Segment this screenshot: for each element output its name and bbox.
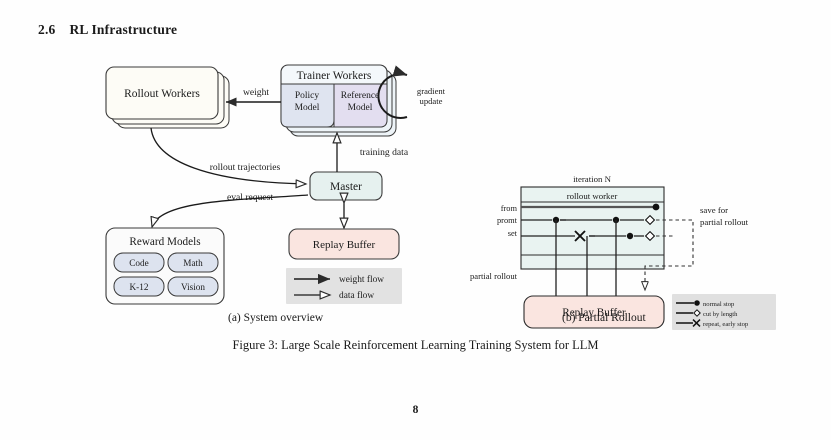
policy-model-label-line1: Policy — [295, 91, 320, 101]
training-data-edge: training data — [337, 133, 409, 172]
figure-3-graphic: Rollout Workers Trainer Workers Policy M… — [0, 50, 831, 370]
reference-model-label-line1: Reference — [341, 90, 380, 101]
panel-a-caption: (a) System overview — [228, 312, 323, 324]
iteration-label: iteration N — [573, 174, 612, 184]
panel-b-left-label-promt: promt — [497, 216, 518, 225]
legend-b-cut-by-length-label: cut by length — [703, 311, 738, 318]
filled-circle-icon — [627, 233, 633, 239]
rollout-trajectories-edge: rollout trajectories — [151, 128, 306, 184]
panel-b-left-label-set: set — [508, 229, 518, 238]
partial-rollout-label: partial rollout — [470, 271, 518, 281]
trainer-workers-title: Trainer Workers — [297, 70, 372, 82]
panel-a: Rollout Workers Trainer Workers Policy M… — [106, 65, 446, 304]
rollout-trajectories-arrow — [151, 128, 306, 184]
section-title: RL Infrastructure — [69, 22, 177, 37]
rollout-worker-label: rollout worker — [567, 191, 618, 201]
legend-b-normal-stop-label: normal stop — [703, 301, 735, 308]
filled-circle-icon — [694, 300, 700, 306]
reward-pill-math-label: Math — [183, 258, 203, 268]
panel-b-left-label-from: from — [501, 204, 518, 213]
panel-a-legend: weight flow data flow — [286, 268, 402, 304]
policy-model-label-line2: Model — [295, 103, 320, 113]
weight-edge-label: weight — [243, 87, 269, 98]
gradient-update-label-line1: gradient — [417, 86, 446, 96]
reward-models-node[interactable]: Reward Models Code Math K-12 Vision — [106, 228, 224, 304]
replay-buffer-node-a[interactable]: Replay Buffer — [289, 229, 399, 259]
legend-data-flow-label: data flow — [339, 290, 374, 301]
master-label: Master — [330, 181, 362, 193]
document-page: 2.6RL Infrastructure — [0, 0, 831, 440]
gradient-update-label-line2: update — [420, 96, 443, 106]
reference-model-label-line2: Model — [348, 103, 373, 113]
page-number: 8 — [0, 404, 831, 416]
legend-weight-flow-label: weight flow — [339, 274, 384, 285]
reward-pill-k12-label: K-12 — [130, 282, 149, 292]
replay-buffer-label-a: Replay Buffer — [313, 239, 376, 251]
rollout-workers-label: Rollout Workers — [124, 88, 200, 100]
reward-pill-vision-label: Vision — [181, 282, 205, 292]
reward-models-title: Reward Models — [129, 236, 200, 248]
eval-request-edge-label: eval request — [227, 192, 273, 203]
panel-b-caption: (b) Partial Rollout — [562, 312, 646, 324]
eval-request-edge: eval request — [152, 192, 308, 227]
figure-caption: Figure 3: Large Scale Reinforcement Lear… — [0, 338, 831, 353]
reward-pill-code-label: Code — [129, 258, 148, 268]
panel-b-legend: normal stop cut by length repeat, early … — [672, 294, 776, 330]
section-heading: 2.6RL Infrastructure — [38, 22, 177, 38]
master-node[interactable]: Master — [310, 172, 382, 200]
training-data-edge-label: training data — [360, 147, 409, 158]
panel-b: iteration N rollout worker from promt se… — [470, 174, 776, 330]
legend-b-repeat-early-stop-label: repeat, early stop — [703, 321, 749, 328]
rollout-trajectories-edge-label: rollout trajectories — [210, 162, 281, 173]
save-label-line1: save for — [700, 205, 728, 215]
section-number: 2.6 — [38, 22, 55, 37]
figure-3: Rollout Workers Trainer Workers Policy M… — [0, 50, 831, 370]
weight-flow-edge: weight — [226, 87, 281, 102]
filled-circle-icon — [653, 204, 660, 211]
save-label-line2: partial rollout — [700, 217, 749, 227]
rollout-workers-node[interactable]: Rollout Workers — [106, 67, 229, 128]
